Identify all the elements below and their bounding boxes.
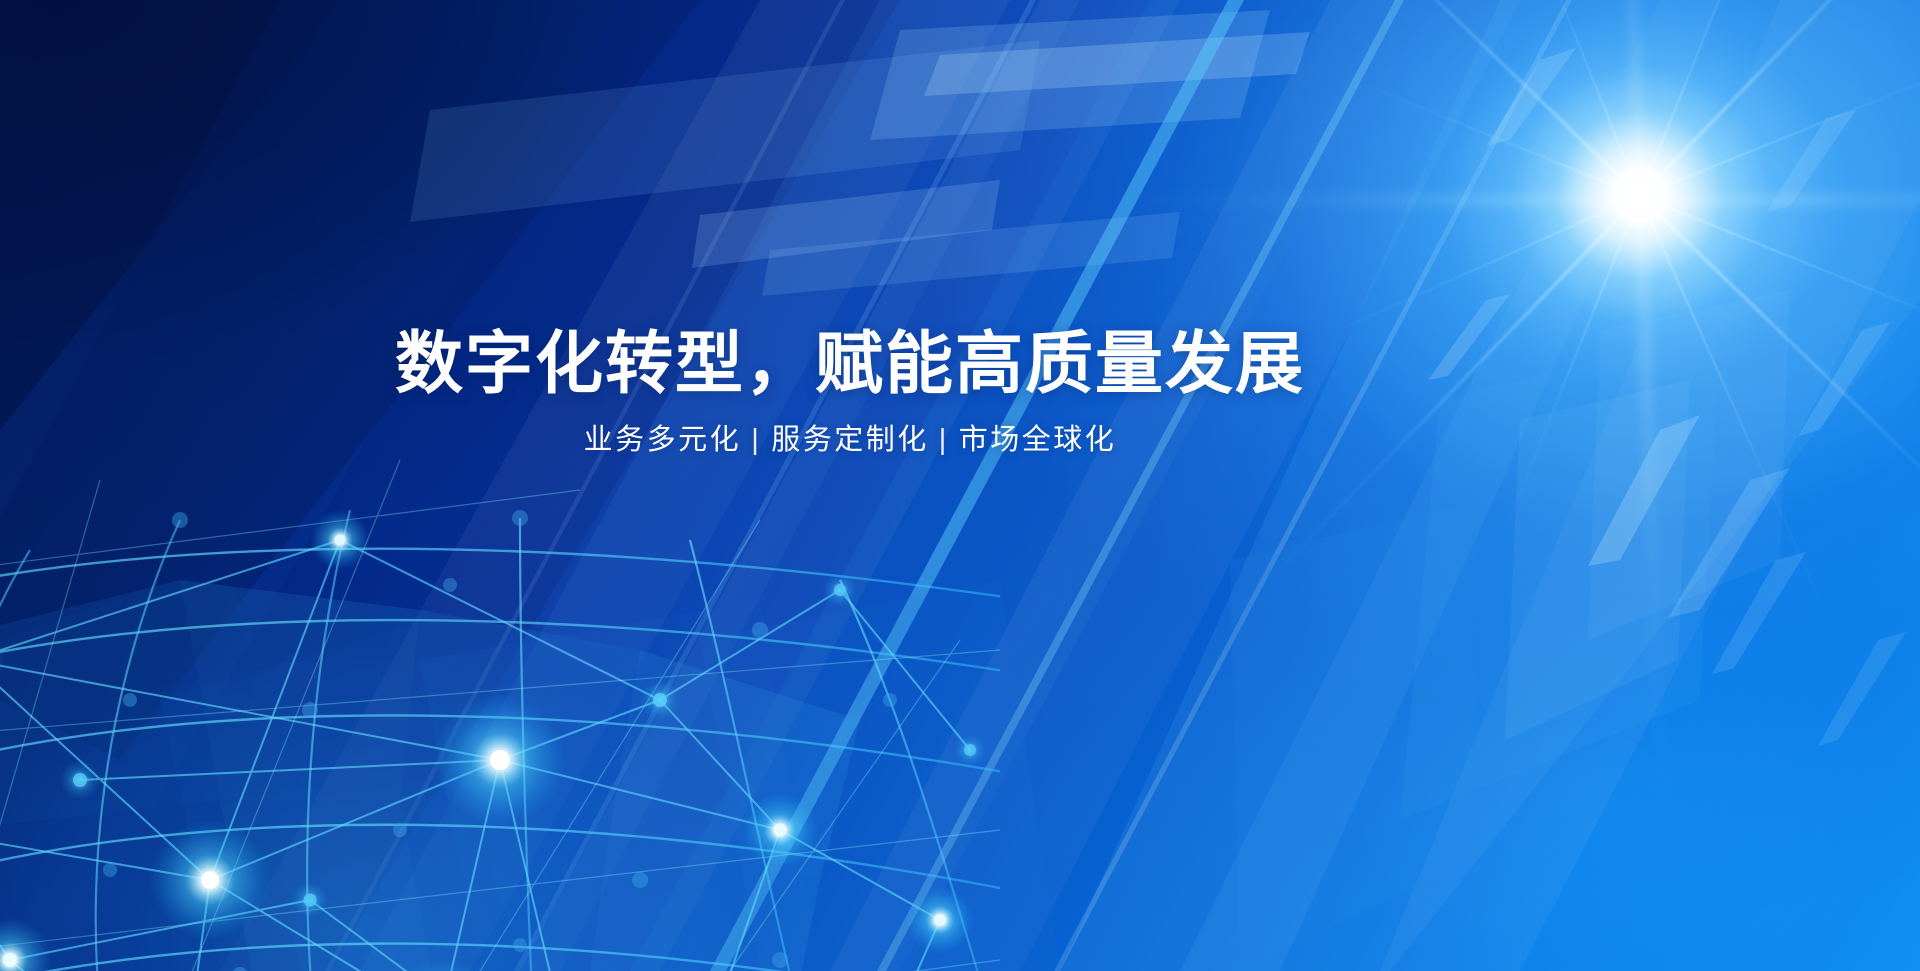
globe-glow-wash [0, 480, 1020, 971]
subtitle-item-2: 服务定制化 [771, 424, 929, 456]
promo-banner: 数字化转型，赋能高质量发展 业务多元化|服务定制化|市场全球化 [0, 0, 1920, 971]
subtitle-separator: | [741, 426, 771, 455]
hero-text-block: 数字化转型，赋能高质量发展 业务多元化|服务定制化|市场全球化 [0, 330, 1700, 455]
subtitle-item-3: 市场全球化 [959, 424, 1117, 456]
subtitle-item-1: 业务多元化 [584, 424, 742, 456]
subtitle-separator: | [929, 426, 959, 455]
page-title: 数字化转型，赋能高质量发展 [0, 330, 1700, 398]
page-subtitle: 业务多元化|服务定制化|市场全球化 [0, 426, 1700, 455]
